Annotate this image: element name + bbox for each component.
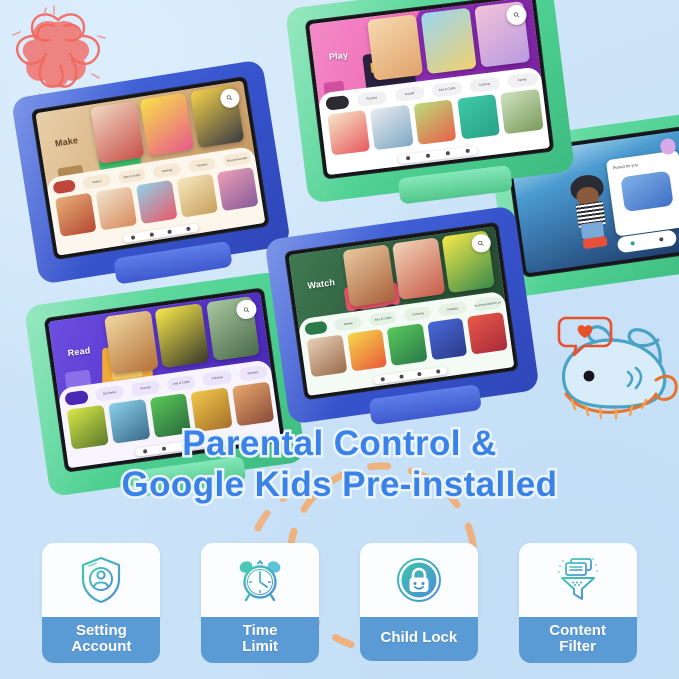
category-chip[interactable]: Fantasy — [238, 365, 268, 382]
book-tile[interactable] — [232, 381, 274, 426]
feature-icon-wrap — [519, 543, 637, 617]
tablet-screen-make[interactable]: Make Videos Arts & Crafts Gaming Fa — [35, 81, 265, 256]
category-chip[interactable]: Videos — [82, 173, 111, 190]
feature-label: Child Lock — [360, 617, 478, 661]
tablet-screen-watch[interactable]: Watch Shows Arts & Crafts Coloring — [289, 226, 515, 396]
feature-label: Time Limit — [201, 617, 319, 663]
category-chip[interactable]: Coloring — [469, 76, 500, 93]
video-tile[interactable] — [140, 93, 195, 157]
feature-label: Content Filter — [519, 617, 637, 663]
shield-person-icon — [75, 554, 127, 606]
hero-label: Read — [67, 345, 91, 358]
feature-icon-wrap — [42, 543, 160, 617]
feature-card-time-limit[interactable]: Time Limit — [201, 543, 319, 663]
app-tile[interactable] — [367, 14, 423, 80]
video-tile[interactable] — [307, 335, 348, 378]
feature-icon-wrap — [201, 543, 319, 617]
book-tile[interactable] — [155, 303, 210, 368]
app-thumbnail[interactable] — [620, 170, 674, 212]
category-chip[interactable]: My Books — [95, 385, 125, 402]
search-icon — [513, 12, 520, 19]
category-chip[interactable]: Gaming — [152, 162, 181, 179]
funnel-filter-icon — [552, 554, 604, 606]
nav-icon-home[interactable] — [630, 241, 635, 246]
content-tile[interactable] — [96, 187, 138, 231]
category-chip[interactable]: Coloring — [403, 306, 432, 322]
feature-label-line1: Content — [549, 622, 606, 639]
feature-label-line2: Account — [71, 638, 131, 655]
chip-avatar[interactable] — [325, 95, 350, 111]
video-tile[interactable] — [343, 244, 396, 307]
category-chip[interactable]: Recommended for you — [473, 296, 502, 312]
category-chip[interactable]: Arcade — [394, 86, 425, 103]
picked-for-you-card[interactable]: Picked for you — [606, 150, 679, 236]
feature-label-line1: Time — [243, 622, 278, 639]
feature-icon-wrap — [360, 543, 478, 617]
video-tile[interactable] — [467, 312, 508, 355]
nav-icon-games[interactable] — [659, 237, 664, 242]
chip-avatar[interactable] — [65, 390, 89, 406]
headline-line-1: Parental Control & — [0, 424, 679, 465]
nav-icon-games[interactable] — [399, 374, 404, 379]
video-tile[interactable] — [427, 318, 468, 361]
video-tile[interactable] — [392, 237, 445, 300]
category-chip[interactable]: Puzzles — [357, 90, 388, 107]
alarm-clock-icon — [234, 554, 286, 606]
feature-label-line1: Child Lock — [381, 630, 458, 646]
feature-label: Setting Account — [42, 617, 160, 663]
hero-label: Make — [54, 135, 79, 149]
bottom-nav[interactable] — [373, 366, 448, 384]
feature-card-child-lock[interactable]: Child Lock — [360, 543, 478, 661]
feature-label-line2: Limit — [242, 638, 278, 655]
nav-icon-more[interactable] — [186, 226, 191, 231]
app-tile[interactable] — [370, 105, 413, 150]
chip-avatar[interactable] — [304, 321, 327, 336]
content-tile[interactable] — [55, 193, 97, 237]
nav-icon-more[interactable] — [466, 149, 470, 153]
headline-line-2: Google Kids Pre-installed — [0, 465, 679, 506]
nav-icon-camera[interactable] — [417, 372, 422, 377]
search-icon — [243, 306, 250, 313]
card-title: Picked for you — [612, 161, 638, 169]
category-chip[interactable]: Animals — [131, 380, 161, 397]
feature-label-line2: Filter — [559, 638, 596, 655]
nav-icon-more[interactable] — [436, 369, 441, 374]
headline: Parental Control & Google Kids Pre-insta… — [0, 424, 679, 505]
category-chip[interactable]: Recommended — [223, 151, 252, 168]
category-chip[interactable]: Shows — [334, 316, 363, 332]
app-tile[interactable] — [414, 100, 457, 145]
tablet-bezel: Watch Shows Arts & Crafts Coloring — [284, 222, 519, 401]
tablet-watch[interactable]: Watch Shows Arts & Crafts Coloring — [264, 205, 539, 424]
category-chip[interactable]: Coloring — [202, 370, 232, 387]
app-tile[interactable] — [457, 94, 500, 139]
app-tile[interactable] — [327, 110, 370, 155]
category-chip[interactable]: Arts & Crafts — [117, 168, 146, 185]
search-icon — [478, 240, 485, 247]
category-chip[interactable]: Arts & Crafts — [369, 311, 398, 327]
nav-icon-camera[interactable] — [168, 229, 173, 234]
nav-icon-home[interactable] — [406, 156, 410, 160]
nav-icon-games[interactable] — [426, 154, 430, 158]
category-chip[interactable]: Arts & Crafts — [432, 81, 463, 98]
tablet-play[interactable]: Play Puzzles Arcade Arts & Crafts — [285, 0, 575, 204]
nav-icon-home[interactable] — [130, 235, 135, 240]
feature-card-content-filter[interactable]: Content Filter — [519, 543, 637, 663]
nav-icon-camera[interactable] — [446, 151, 450, 155]
chip-avatar[interactable] — [53, 179, 77, 195]
video-tile[interactable] — [387, 323, 428, 366]
search-icon — [226, 95, 233, 102]
hero-label: Watch — [307, 277, 336, 291]
bottom-nav[interactable] — [397, 146, 478, 164]
feature-label-line1: Setting — [76, 622, 127, 639]
feature-card-setting-account[interactable]: Setting Account — [42, 543, 160, 663]
app-tile[interactable] — [421, 8, 477, 74]
category-chip[interactable]: Fantasy — [438, 301, 467, 317]
category-chip[interactable]: Family — [507, 72, 538, 89]
category-chip[interactable]: Fantasy — [187, 157, 216, 174]
content-tile[interactable] — [217, 167, 259, 211]
video-tile[interactable] — [347, 329, 388, 372]
hero-label: Play — [328, 50, 348, 62]
feature-card-row: Setting Account Time Limit — [0, 543, 679, 667]
nav-icon-home[interactable] — [380, 377, 385, 382]
book-tile[interactable] — [104, 310, 159, 375]
app-tile[interactable] — [500, 89, 543, 134]
content-tile[interactable] — [176, 174, 218, 218]
category-chip[interactable]: Arts & Crafts — [167, 375, 197, 392]
nav-icon-games[interactable] — [149, 232, 154, 237]
video-tile[interactable] — [90, 100, 145, 164]
tablet-bezel: Play Puzzles Arcade Arts & Crafts — [305, 0, 555, 180]
content-tile[interactable] — [136, 180, 178, 224]
tablet-make[interactable]: Make Videos Arts & Crafts Gaming Fa — [11, 59, 291, 284]
tablet-screen-play[interactable]: Play Puzzles Arcade Arts & Crafts — [309, 0, 550, 175]
lock-smile-icon — [393, 554, 445, 606]
